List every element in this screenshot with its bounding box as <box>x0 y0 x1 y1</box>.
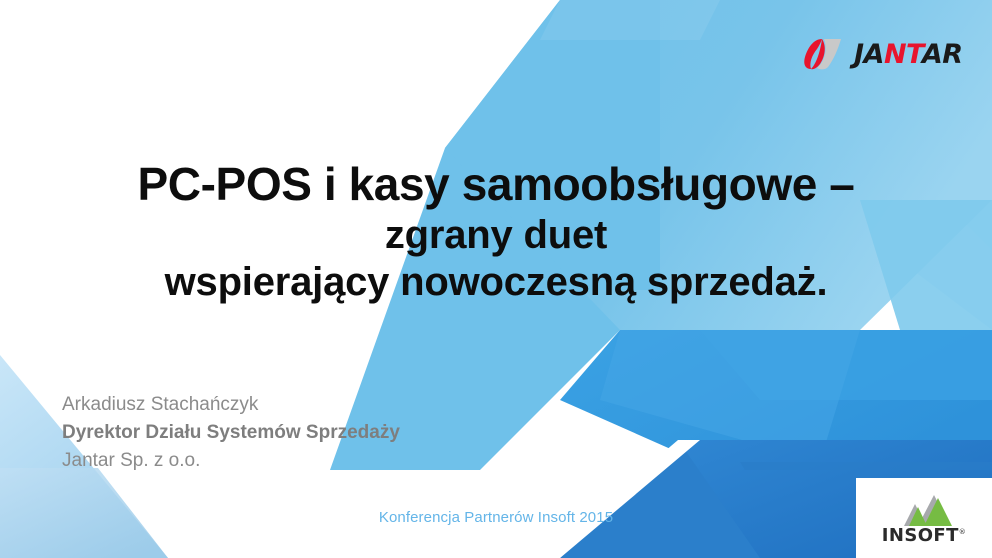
insoft-logo: INSOFT® <box>856 478 992 558</box>
insoft-wordmark: INSOFT® <box>882 527 966 545</box>
bg-shape-highlight-sliver <box>540 0 720 40</box>
author-role: Dyrektor Działu Systemów Sprzedaży <box>62 419 400 447</box>
title-line-2: zgrany duet <box>0 214 992 257</box>
jantar-swoosh-icon <box>800 37 846 71</box>
insoft-registered-mark: ® <box>959 528 966 536</box>
title-line-1: PC-POS i kasy samoobsługowe – <box>0 160 992 210</box>
jantar-word-part-2: NT <box>884 39 922 70</box>
bg-shape-bottom-edge <box>740 462 992 470</box>
jantar-word-part-1: JA <box>854 39 884 70</box>
jantar-logo: JANTAR <box>800 33 980 75</box>
author-block: Arkadiusz Stachańczyk Dyrektor Działu Sy… <box>62 391 400 475</box>
insoft-word-text: INSOFT <box>882 525 959 546</box>
conference-footer-note: Konferencja Partnerów Insoft 2015 <box>0 509 992 526</box>
slide-title: PC-POS i kasy samoobsługowe – zgrany due… <box>0 160 992 304</box>
insoft-mountains-icon <box>887 492 961 526</box>
jantar-word-part-3: AR <box>922 39 963 70</box>
author-name: Arkadiusz Stachańczyk <box>62 391 400 419</box>
presentation-slide: JANTAR PC-POS i kasy samoobsługowe – zgr… <box>0 0 992 558</box>
author-company: Jantar Sp. z o.o. <box>62 447 400 475</box>
jantar-wordmark: JANTAR <box>854 41 963 68</box>
title-line-3: wspierający nowoczesną sprzedaż. <box>0 261 992 304</box>
